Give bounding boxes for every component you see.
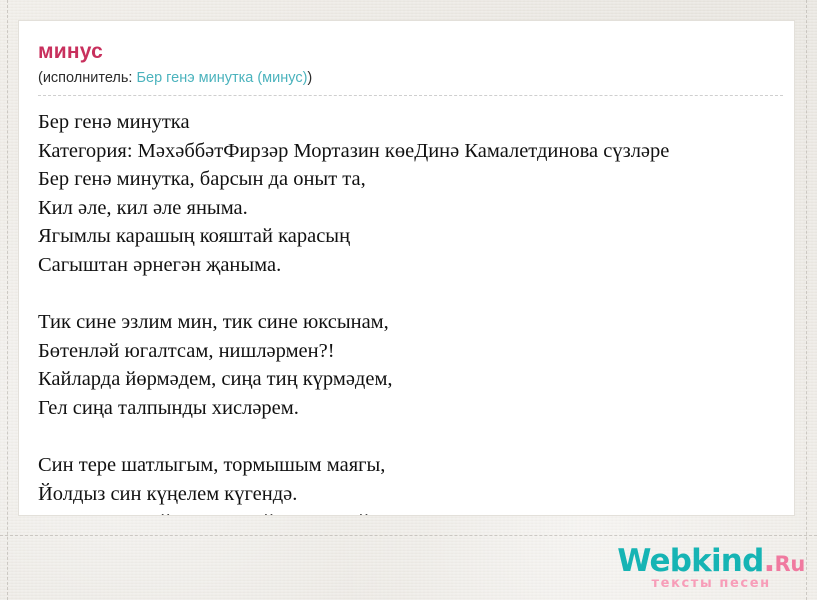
lyric-line: Бер генә минутка [38,108,794,137]
artist-link[interactable]: Бер генэ минутка (минус) [136,70,307,86]
logo-wordmark: Webkind.Ru [617,546,805,580]
logo-dot: . [763,543,774,579]
lyric-line: Ягымлы карашың кояштай карасың [38,222,794,251]
lyric-line: Йолдыз син күңелем күгендә. [38,480,794,509]
lyric-line: Категория: МәхәббәтФирзәр Мортазин көеДи… [38,137,794,166]
lyric-line: Бик соңлап кайтсаң да, кайчан да, кайчан… [38,508,794,516]
lyrics-text: Бер генә минуткаКатегория: МәхәббәтФирзә… [38,108,794,516]
backdrop-guide-bottom [0,535,817,536]
backdrop-guide-left [7,0,8,600]
lyric-line: Сагыштан әрнегән җаныма. [38,251,794,280]
page-title: минус [38,39,794,65]
lyric-line: Гел сиңа талпынды хисләрем. [38,394,794,423]
lyric-line: Кайларда йөрмәдем, сиңа тиң күрмәдем, [38,365,794,394]
artist-prefix-label: (исполнитель: [38,70,136,86]
backdrop-guide-right [806,0,807,600]
lyrics-card: минус (исполнитель: Бер генэ минутка (ми… [18,20,795,516]
lyric-blank-line [38,423,794,452]
lyric-blank-line [38,280,794,309]
webkind-logo[interactable]: Webkind.Ru тексты песен [617,546,805,590]
lyric-line: Бер генә минутка, барсын да оныт та, [38,165,794,194]
logo-tld: Ru [774,552,805,576]
card-content: минус (исполнитель: Бер генэ минутка (ми… [19,21,794,516]
lyric-line: Бөтенләй югалтсам, нишләрмен?! [38,337,794,366]
artist-line: (исполнитель: Бер генэ минутка (минус)) [38,68,783,96]
lyric-line: Кил әле, кил әле яныма. [38,194,794,223]
lyric-line: Син тере шатлыгым, тормышым маягы, [38,451,794,480]
lyric-line: Тик сине эзлим мин, тик сине юксынам, [38,308,794,337]
logo-name-teal: Webkind [617,543,763,579]
artist-suffix-label: ) [307,70,312,86]
